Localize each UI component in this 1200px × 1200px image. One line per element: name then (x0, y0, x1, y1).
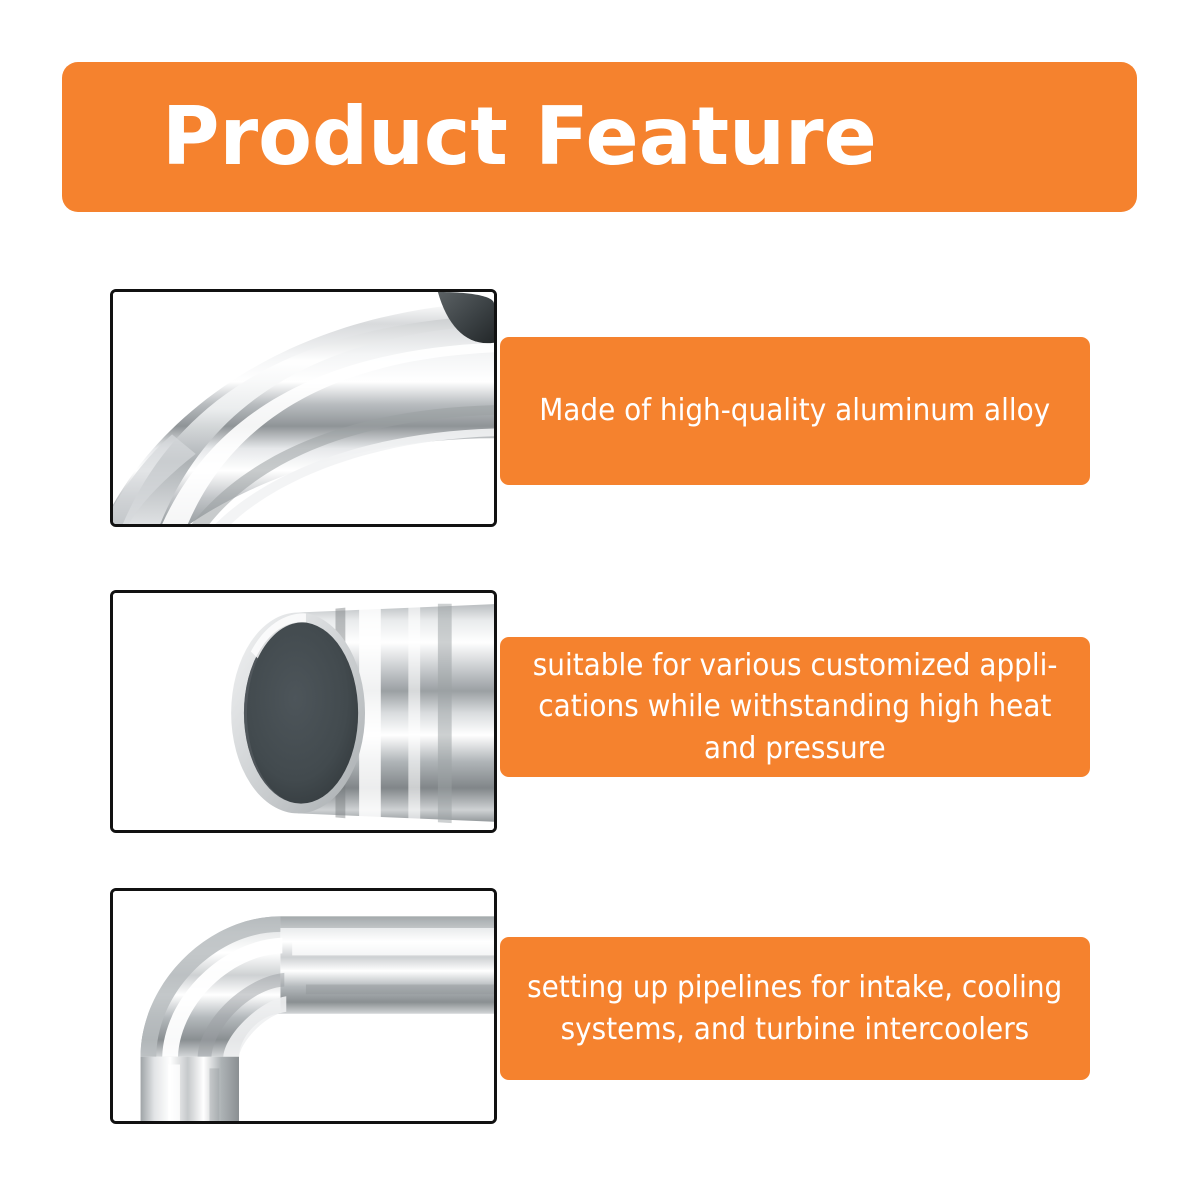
feature-text-line: suitable for various customized appli- (533, 645, 1058, 686)
page-title-banner: Product Feature (62, 62, 1137, 212)
page-title: Product Feature (162, 97, 877, 177)
feature-text-line: setting up pipelines for intake, cooling (527, 967, 1062, 1008)
feature-image-curved-aluminum-pipe-closeup (110, 289, 497, 527)
curved-pipe-illustration (113, 292, 494, 524)
product-feature-infographic: Product Feature (0, 0, 1200, 1200)
feature-text-bar: Made of high-quality aluminum alloy (500, 337, 1090, 485)
feature-text-line: Made of high-quality aluminum alloy (540, 390, 1051, 431)
feature-text-line: cations while withstanding high heat (538, 686, 1051, 727)
feature-text-line: and pressure (704, 728, 886, 769)
feature-image-ninety-degree-elbow-bend (110, 888, 497, 1124)
feature-text-bar: suitable for various customized appli- c… (500, 637, 1090, 777)
elbow-bend-illustration (113, 891, 494, 1121)
tube-open-end-illustration (113, 593, 494, 830)
feature-text-line: systems, and turbine intercoolers (561, 1009, 1030, 1050)
feature-text-bar: setting up pipelines for intake, cooling… (500, 937, 1090, 1080)
feature-image-aluminum-tube-open-end (110, 590, 497, 833)
